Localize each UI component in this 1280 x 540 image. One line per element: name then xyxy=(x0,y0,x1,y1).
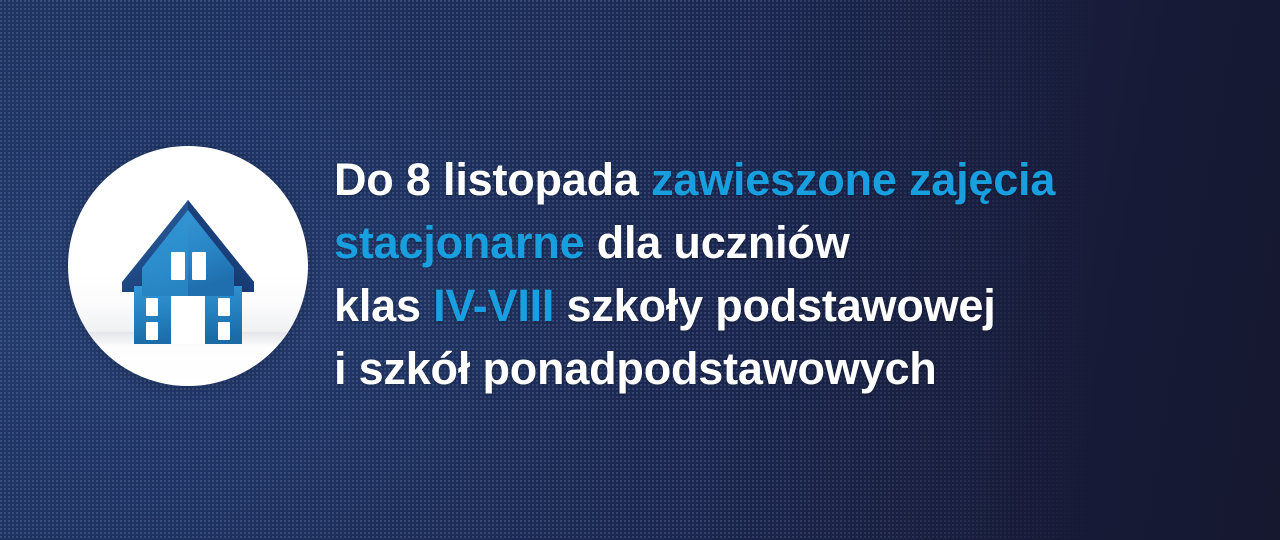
house-icon-badge xyxy=(68,146,308,386)
announcement-banner: Do 8 listopada zawieszone zajęcia stacjo… xyxy=(0,0,1280,540)
headline-line-2: stacjonarne dla uczniów xyxy=(334,211,1234,274)
headline-segment-accent: stacjonarne xyxy=(334,217,584,268)
headline-segment: dla uczniów xyxy=(584,217,849,268)
headline-segment: i szkół ponadpodstawowych xyxy=(334,343,937,394)
headline-line-3: klas IV-VIII szkoły podstawowej xyxy=(334,274,1234,337)
headline-line-4: i szkół ponadpodstawowych xyxy=(334,337,1234,400)
headline-segment: szkoły podstawowej xyxy=(554,280,995,331)
headline-line-1: Do 8 listopada zawieszone zajęcia xyxy=(334,148,1234,211)
headline-segment: Do 8 listopada xyxy=(334,154,651,205)
house-icon xyxy=(68,146,308,386)
headline-segment-accent: zawieszone zajęcia xyxy=(651,154,1055,205)
headline-segment: klas xyxy=(334,280,433,331)
headline-segment-accent: IV-VIII xyxy=(433,280,554,331)
headline: Do 8 listopada zawieszone zajęcia stacjo… xyxy=(334,148,1234,400)
